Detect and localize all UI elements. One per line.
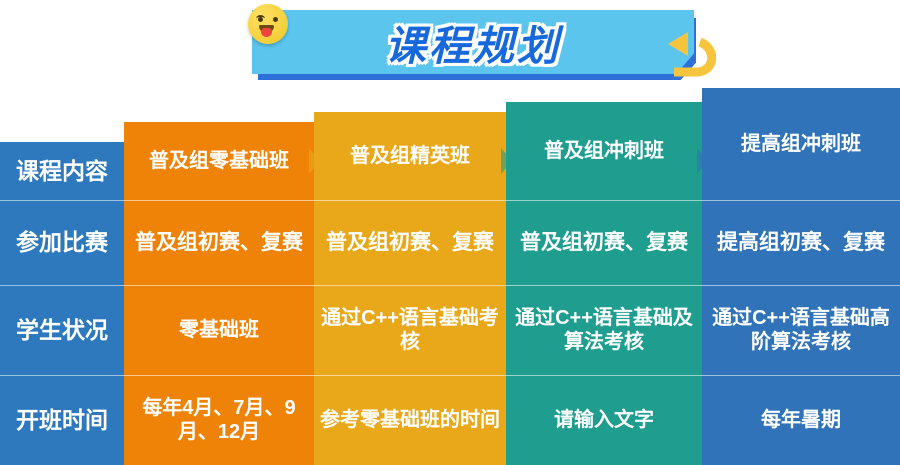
row-label-cell: 课程内容 <box>0 142 124 200</box>
table-cell-col1-r0: 普及组零基础班 <box>124 122 314 200</box>
cell-text: 参考零基础班的时间 <box>320 408 500 432</box>
cell-text: 普及组精英班 <box>350 144 470 168</box>
cell-text: 普及组初赛、复赛 <box>520 230 688 256</box>
table-cell-col3-r0: 普及组冲刺班 <box>506 102 702 200</box>
table-column-col2: 普及组精英班普及组初赛、复赛通过C++语言基础考核参考零基础班的时间 <box>314 112 506 465</box>
table-column-col3: 普及组冲刺班普及组初赛、复赛通过C++语言基础及算法考核请输入文字 <box>506 102 702 465</box>
cell-text: 课程内容 <box>16 157 108 185</box>
table-column-label: 课程内容参加比赛学生状况开班时间 <box>0 142 124 465</box>
cell-text: 参加比赛 <box>16 228 108 256</box>
cell-text: 学生状况 <box>16 316 108 344</box>
cell-text: 通过C++语言基础高阶算法考核 <box>707 306 895 355</box>
table-column-col1: 普及组零基础班普及组初赛、复赛零基础班每年4月、7月、9月、12月 <box>124 122 314 465</box>
row-label-cell: 开班时间 <box>0 375 124 465</box>
cell-text: 普及组冲刺班 <box>544 139 664 163</box>
cell-text: 提高组初赛、复赛 <box>717 230 885 256</box>
table-cell-col2-r3: 参考零基础班的时间 <box>314 375 506 465</box>
table-cell-col3-r1: 普及组初赛、复赛 <box>506 200 702 285</box>
cell-text: 通过C++语言基础考核 <box>319 306 501 355</box>
table-cell-col3-r2: 通过C++语言基础及算法考核 <box>506 285 702 375</box>
table-cell-col1-r1: 普及组初赛、复赛 <box>124 200 314 285</box>
cell-text: 普及组零基础班 <box>149 149 289 173</box>
cell-text: 零基础班 <box>179 318 259 342</box>
cell-text: 普及组初赛、复赛 <box>135 230 303 256</box>
cell-text: 开班时间 <box>16 406 108 434</box>
row-label-cell: 学生状况 <box>0 285 124 375</box>
table-column-col4: 提高组冲刺班提高组初赛、复赛通过C++语言基础高阶算法考核每年暑期 <box>702 88 900 465</box>
cell-text: 每年暑期 <box>761 408 841 432</box>
table-cell-col2-r1: 普及组初赛、复赛 <box>314 200 506 285</box>
table-cell-col2-r2: 通过C++语言基础考核 <box>314 285 506 375</box>
cell-text: 每年4月、7月、9月、12月 <box>129 396 309 445</box>
table-cell-col2-r0: 普及组精英班 <box>314 112 506 200</box>
table-cell-col3-r3: 请输入文字 <box>506 375 702 465</box>
table-cell-col1-r2: 零基础班 <box>124 285 314 375</box>
table-cell-col4-r3: 每年暑期 <box>702 375 900 465</box>
table-cell-col4-r0: 提高组冲刺班 <box>702 88 900 200</box>
cell-text: 请输入文字 <box>554 408 654 432</box>
table-cell-col1-r3: 每年4月、7月、9月、12月 <box>124 375 314 465</box>
cell-text: 普及组初赛、复赛 <box>326 230 494 256</box>
table-cell-col4-r1: 提高组初赛、复赛 <box>702 200 900 285</box>
row-label-cell: 参加比赛 <box>0 200 124 285</box>
course-plan-table: 课程内容参加比赛学生状况开班时间普及组零基础班普及组初赛、复赛零基础班每年4月、… <box>0 0 900 465</box>
cell-text: 提高组冲刺班 <box>741 132 861 156</box>
cell-text: 通过C++语言基础及算法考核 <box>511 306 697 355</box>
table-cell-col4-r2: 通过C++语言基础高阶算法考核 <box>702 285 900 375</box>
slide-canvas: 课程规划 课程内容参加比赛学生状况开班时间普及组零基础班普及组初赛、复赛零基础班… <box>0 0 900 465</box>
